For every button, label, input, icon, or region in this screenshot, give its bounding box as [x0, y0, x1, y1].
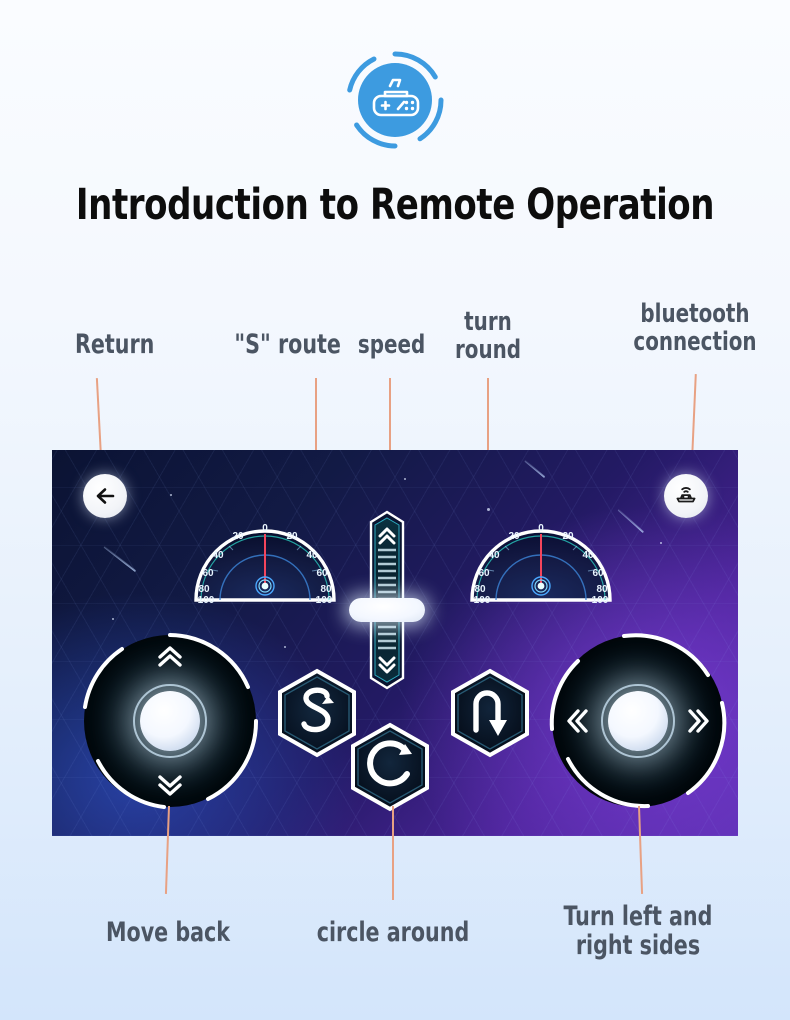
svg-text:80: 80 [474, 584, 486, 595]
svg-text:80: 80 [198, 584, 210, 595]
svg-text:60: 60 [316, 568, 328, 579]
leader-line-circle-around [392, 806, 394, 900]
svg-text:80: 80 [320, 584, 332, 595]
svg-text:100: 100 [474, 595, 491, 603]
bluetooth-connect-button[interactable] [664, 474, 708, 518]
callout-turn-round-line2: round [455, 335, 521, 365]
callout-s-route: "S" route [234, 330, 341, 359]
right-speed-gauge: 0 2020 4040 6060 8080 100100 [466, 508, 616, 603]
left-right-joystick[interactable] [548, 631, 728, 811]
svg-text:80: 80 [596, 584, 608, 595]
arrow-left-icon [93, 484, 117, 508]
callout-return: Return [75, 330, 154, 359]
page-title: Introduction to Remote Operation [47, 180, 742, 230]
svg-text:40: 40 [212, 550, 224, 561]
callout-move-back: Move back [100, 918, 236, 947]
callout-turn-sides-line2: right sides [576, 930, 700, 961]
svg-text:40: 40 [582, 550, 594, 561]
svg-text:60: 60 [592, 568, 604, 579]
left-speed-gauge: 0 2020 4040 6060 8080 100100 [190, 508, 340, 603]
svg-text:20: 20 [562, 531, 574, 542]
svg-text:40: 40 [488, 550, 500, 561]
car-signal-icon [673, 483, 699, 509]
svg-text:20: 20 [286, 531, 298, 542]
svg-text:0: 0 [538, 523, 544, 534]
return-button[interactable] [83, 474, 127, 518]
callout-turn-sides-line1: Turn left and [564, 901, 713, 932]
callout-bluetooth-line2: connection [633, 327, 756, 357]
callout-speed: speed [358, 331, 425, 359]
callout-bluetooth-line1: bluetooth [640, 299, 749, 329]
turn-round-button[interactable] [445, 668, 535, 758]
svg-text:40: 40 [306, 550, 318, 561]
speed-slider-handle[interactable] [349, 598, 425, 622]
svg-text:100: 100 [198, 595, 215, 603]
callout-turn-round: turn round [454, 308, 522, 364]
svg-text:20: 20 [508, 531, 520, 542]
callout-circle-around: circle around [314, 918, 472, 947]
speed-slider[interactable] [366, 510, 408, 690]
svg-text:100: 100 [316, 595, 333, 603]
svg-text:100: 100 [592, 595, 609, 603]
circle-around-button[interactable] [345, 722, 435, 812]
callout-turn-sides: Turn left and right sides [553, 902, 723, 960]
svg-text:0: 0 [262, 523, 268, 534]
callout-turn-round-line1: turn [464, 307, 512, 337]
badge-container [0, 48, 790, 152]
gamepad-badge-icon [343, 48, 447, 152]
svg-text:20: 20 [232, 531, 244, 542]
forward-back-joystick[interactable] [80, 631, 260, 811]
callout-bluetooth: bluetooth connection [623, 300, 768, 356]
